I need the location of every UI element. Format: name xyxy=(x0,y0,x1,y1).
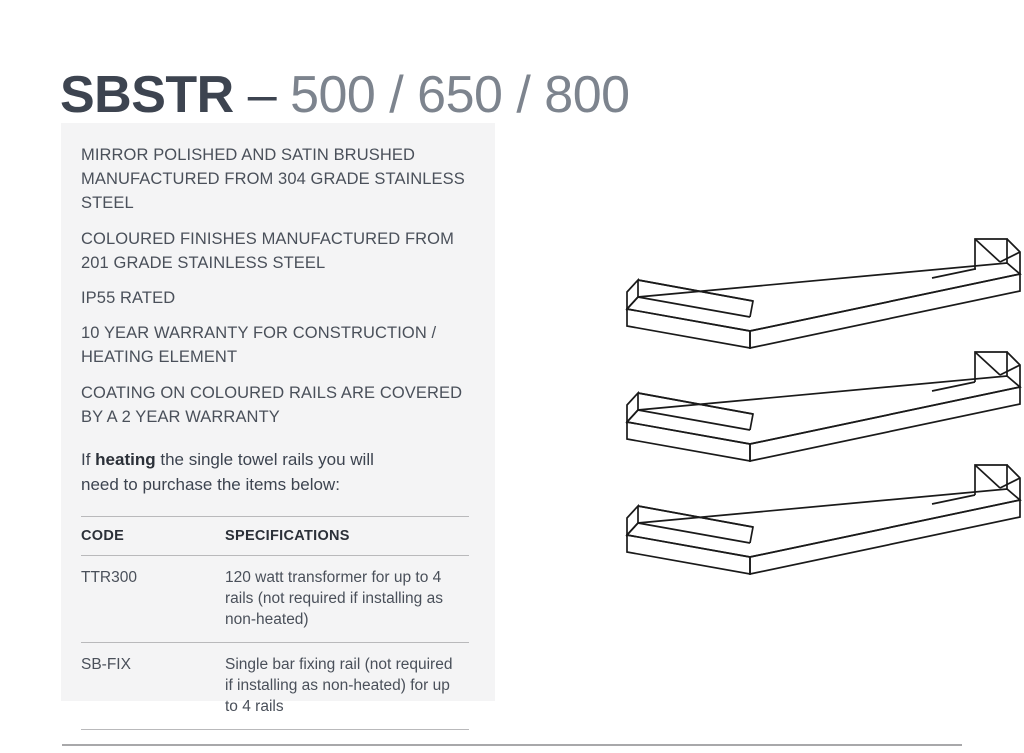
footer-divider xyxy=(62,744,962,746)
feature-item: 10 YEAR WARRANTY FOR CONSTRUCTION / HEAT… xyxy=(81,321,469,369)
cell-specification: Single bar fixing rail (not required if … xyxy=(225,643,469,730)
cell-code: SB-FIX xyxy=(81,643,225,730)
specification-panel: MIRROR POLISHED AND SATIN BRUSHED MANUFA… xyxy=(61,123,495,701)
feature-item: MIRROR POLISHED AND SATIN BRUSHED MANUFA… xyxy=(81,143,469,216)
towel-rail-illustration-1 xyxy=(580,231,1024,351)
feature-item: COATING ON COLOURED RAILS ARE COVERED BY… xyxy=(81,381,469,429)
heating-note-lead: If xyxy=(81,450,95,469)
page-title-sizes: 500 / 650 / 800 xyxy=(290,66,629,124)
towel-rail-line-drawing-icon xyxy=(580,231,1024,351)
towel-rail-illustration-2 xyxy=(580,344,1024,464)
table-header-row: CODE SPECIFICATIONS xyxy=(81,517,469,556)
table-row: TTR300 120 watt transformer for up to 4 … xyxy=(81,556,469,643)
page-title-code: SBSTR xyxy=(60,66,234,124)
accessories-table-body: TTR300 120 watt transformer for up to 4 … xyxy=(81,556,469,730)
page-title-dash: – xyxy=(234,66,290,124)
feature-list: MIRROR POLISHED AND SATIN BRUSHED MANUFA… xyxy=(81,143,469,429)
accessories-table: CODE SPECIFICATIONS TTR300 120 watt tran… xyxy=(81,516,469,730)
towel-rail-line-drawing-icon xyxy=(580,457,1024,577)
feature-item: IP55 RATED xyxy=(81,286,469,310)
column-header-specifications: SPECIFICATIONS xyxy=(225,517,469,556)
accessories-table-head: CODE SPECIFICATIONS xyxy=(81,517,469,556)
feature-item: COLOURED FINISHES MANUFACTURED FROM 201 … xyxy=(81,227,469,275)
heating-note-emphasis: heating xyxy=(95,450,155,469)
towel-rail-illustration-3 xyxy=(580,457,1024,577)
cell-code: TTR300 xyxy=(81,556,225,643)
column-header-code: CODE xyxy=(81,517,225,556)
page-title: SBSTR – 500 / 650 / 800 xyxy=(60,65,630,125)
heating-note: If heating the single towel rails you wi… xyxy=(81,447,411,497)
product-illustrations xyxy=(540,205,1010,575)
table-row: SB-FIX Single bar fixing rail (not requi… xyxy=(81,643,469,730)
towel-rail-line-drawing-icon xyxy=(580,344,1024,464)
cell-specification: 120 watt transformer for up to 4 rails (… xyxy=(225,556,469,643)
